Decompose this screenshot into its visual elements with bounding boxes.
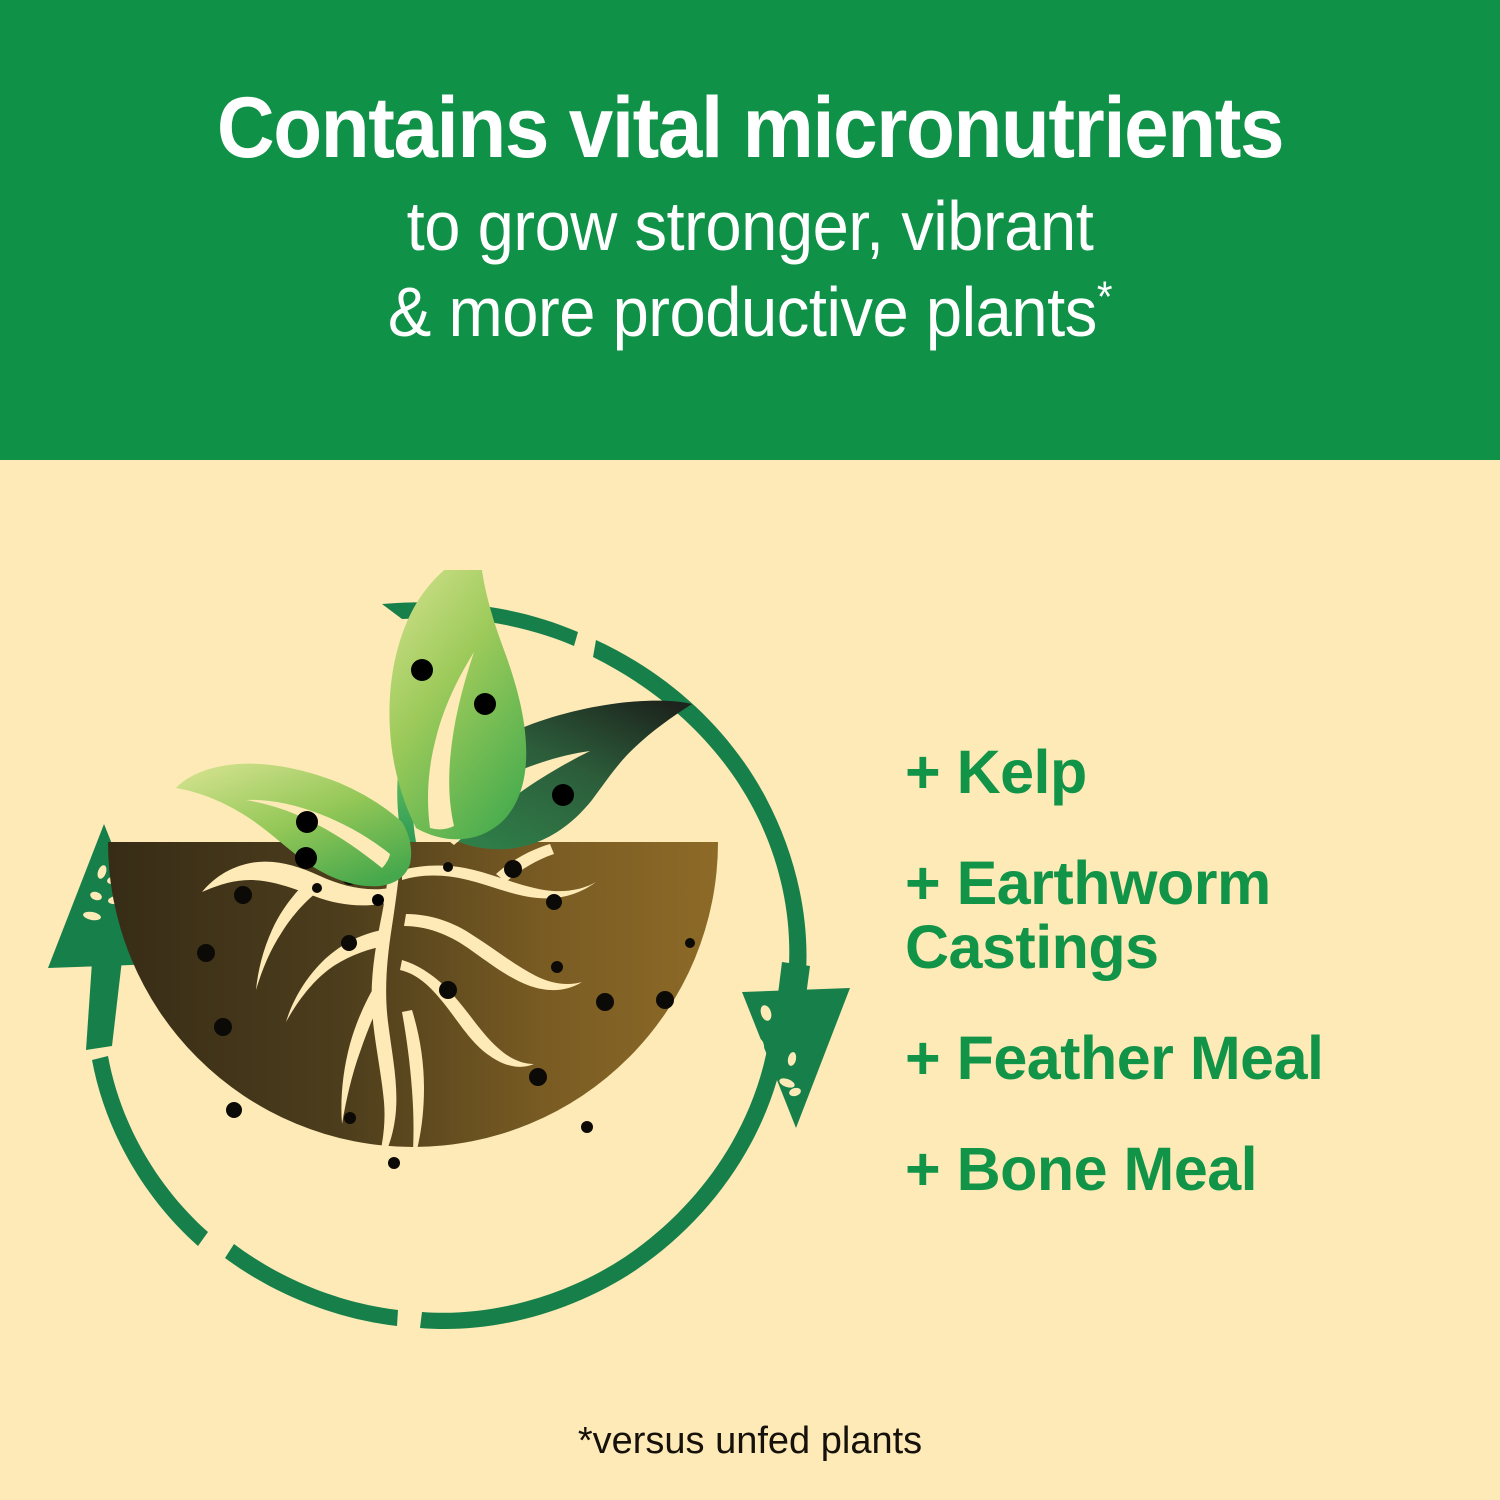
asterisk-marker: * xyxy=(1097,273,1112,321)
header-banner: Contains vital micronutrients to grow st… xyxy=(0,0,1500,460)
ingredient-item-feather-meal: + Feather Meal xyxy=(905,1026,1465,1091)
infographic-page: Contains vital micronutrients to grow st… xyxy=(0,0,1500,1500)
subheadline-line-2: & more productive plants* xyxy=(53,270,1448,355)
headline-text: Contains vital micronutrients xyxy=(53,86,1448,170)
ingredient-item-kelp: + Kelp xyxy=(905,740,1465,805)
soil-dome xyxy=(108,842,718,1170)
cycle-arc-right-stem xyxy=(778,962,810,996)
footnote-disclaimer: *versus unfed plants xyxy=(0,1420,1500,1463)
ingredient-item-bone-meal: + Bone Meal xyxy=(905,1137,1465,1202)
subheadline-line-2-text: & more productive plants xyxy=(388,273,1097,351)
ingredient-list: + Kelp + Earthworm Castings + Feather Me… xyxy=(905,740,1465,1201)
content-area: + Kelp + Earthworm Castings + Feather Me… xyxy=(0,460,1500,1500)
ingredient-item-earthworm-castings: + Earthworm Castings xyxy=(905,851,1465,980)
subheadline-line-1: to grow stronger, vibrant xyxy=(407,187,1094,265)
subheadline-text: to grow stronger, vibrant & more product… xyxy=(53,184,1448,355)
nutrient-cycle-illustration xyxy=(30,570,890,1370)
cycle-arc-left-stem xyxy=(86,960,122,1050)
